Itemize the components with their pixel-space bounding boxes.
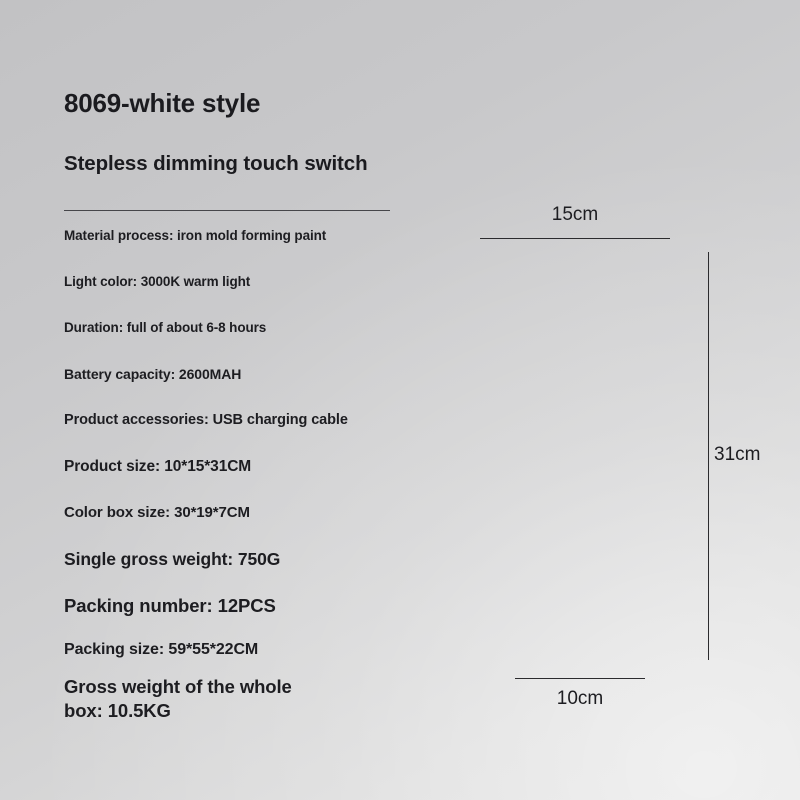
- spec-line: Single gross weight: 750G: [64, 549, 280, 570]
- spec-line: Packing size: 59*55*22CM: [64, 641, 258, 659]
- spec-line: box: 10.5KG: [64, 700, 171, 722]
- spec-line: Packing number: 12PCS: [64, 595, 276, 617]
- width-dimension-line: [480, 238, 670, 239]
- height-dimension-label: 31cm: [714, 444, 760, 466]
- spec-line: Product size: 10*15*31CM: [64, 458, 251, 476]
- page-title: 8069-white style: [64, 88, 260, 119]
- base-dimension-line: [515, 678, 645, 679]
- spec-line: Product accessories: USB charging cable: [64, 412, 348, 428]
- spec-line: Gross weight of the whole: [64, 676, 292, 698]
- spec-line: Material process: iron mold forming pain…: [64, 228, 326, 243]
- spec-line: Duration: full of about 6-8 hours: [64, 320, 266, 335]
- spec-line: Light color: 3000K warm light: [64, 274, 250, 289]
- width-dimension-label: 15cm: [480, 204, 670, 226]
- base-dimension-label: 10cm: [515, 688, 645, 710]
- header-divider: [64, 210, 390, 211]
- product-subtitle: Stepless dimming touch switch: [64, 152, 368, 176]
- spec-line: Battery capacity: 2600MAH: [64, 366, 241, 382]
- product-spec-sheet: 8069-white style Stepless dimming touch …: [0, 0, 800, 800]
- spec-line: Color box size: 30*19*7CM: [64, 504, 250, 521]
- height-dimension-line: [708, 252, 709, 660]
